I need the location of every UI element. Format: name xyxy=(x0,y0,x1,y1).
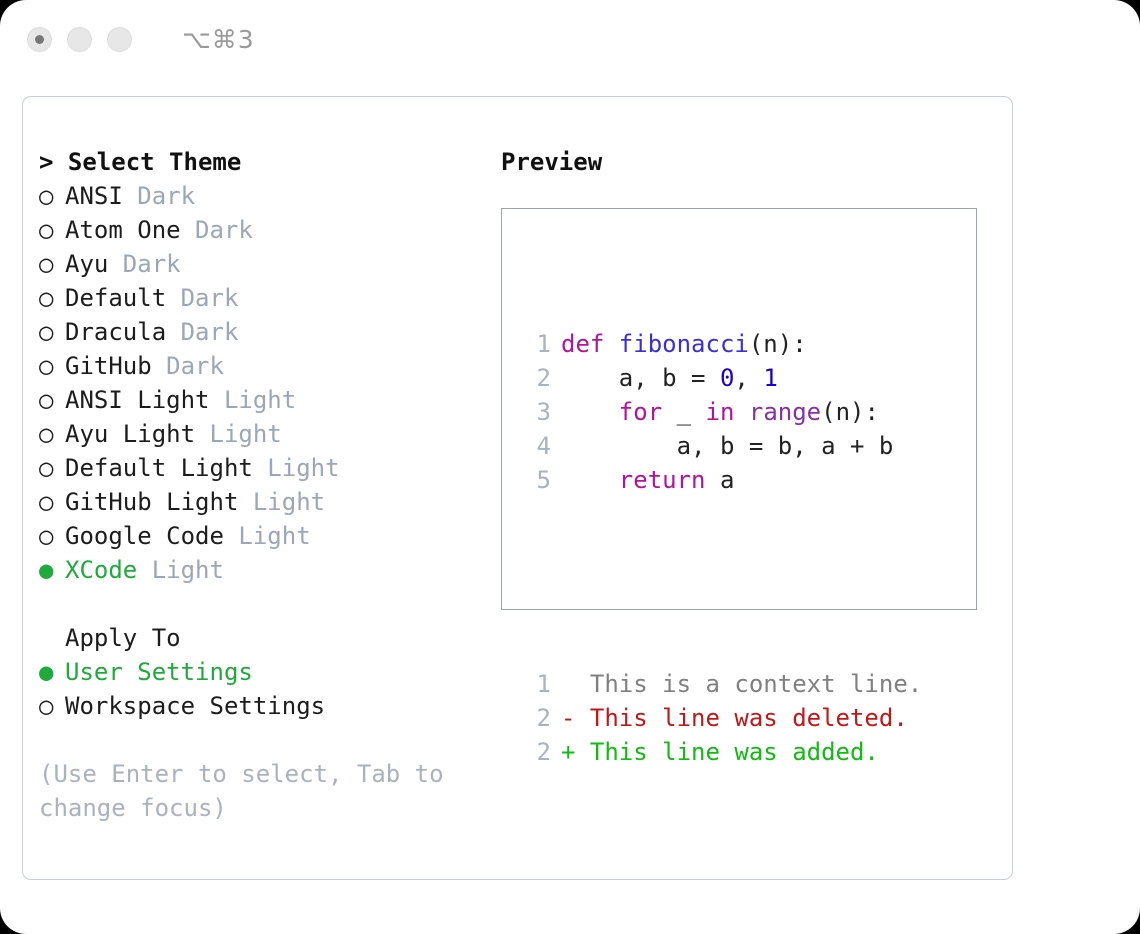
code-token: in xyxy=(706,398,735,426)
theme-name: GitHub Light xyxy=(65,488,238,516)
radio-unselected-icon: ○ xyxy=(39,383,65,417)
theme-picker-panel: > Select Theme ○ANSI Dark○Atom One Dark○… xyxy=(22,96,1013,880)
code-token: range xyxy=(749,398,821,426)
code-token xyxy=(561,466,619,494)
code-line: 2 a, b = 0, 1 xyxy=(523,361,922,395)
keyboard-shortcut-label: ⌥⌘3 xyxy=(182,27,255,52)
apply-to-label: Workspace Settings xyxy=(65,692,325,720)
theme-name: Ayu Light xyxy=(65,420,195,448)
apply-to-options: ●User Settings○Workspace Settings xyxy=(39,655,469,723)
code-line-number: 1 xyxy=(523,327,551,361)
theme-list: ○ANSI Dark○Atom One Dark○Ayu Dark○Defaul… xyxy=(39,179,469,587)
theme-variant-badge: Dark xyxy=(108,250,180,278)
theme-variant-badge: Dark xyxy=(181,216,253,244)
theme-name: XCode xyxy=(65,556,137,584)
theme-option-default-light[interactable]: ○Default Light Light xyxy=(39,451,469,485)
diff-sample: 1 This is a context line.2- This line wa… xyxy=(523,667,922,769)
recording-dot-inner xyxy=(35,35,44,44)
code-token: a, b = xyxy=(561,364,720,392)
recording-indicator-dot[interactable] xyxy=(27,27,52,52)
code-line: 4 a, b = b, a + b xyxy=(523,429,922,463)
apply-to-option-workspace-settings[interactable]: ○Workspace Settings xyxy=(39,689,469,723)
code-token: fibonacci xyxy=(619,330,749,358)
keyboard-hint-text: (Use Enter to select, Tab to change focu… xyxy=(39,757,459,825)
preview-header: Preview xyxy=(501,145,1001,179)
theme-name: ANSI Light xyxy=(65,386,210,414)
theme-option-atom-one[interactable]: ○Atom One Dark xyxy=(39,213,469,247)
radio-unselected-icon: ○ xyxy=(39,689,65,723)
code-line: 5 return a xyxy=(523,463,922,497)
preview-box: 1def fibonacci(n):2 a, b = 0, 13 for _ i… xyxy=(501,208,977,610)
diff-line-number: 1 xyxy=(523,667,551,701)
diff-line-text: - This line was deleted. xyxy=(561,704,908,732)
radio-unselected-icon: ○ xyxy=(39,519,65,553)
code-line-number: 3 xyxy=(523,395,551,429)
diff-line: 2- This line was deleted. xyxy=(523,701,922,735)
titlebar-dot-3[interactable] xyxy=(107,27,132,52)
theme-name: Ayu xyxy=(65,250,108,278)
radio-unselected-icon: ○ xyxy=(39,315,65,349)
theme-variant-badge: Light xyxy=(224,522,311,550)
theme-option-github[interactable]: ○GitHub Dark xyxy=(39,349,469,383)
theme-variant-badge: Dark xyxy=(152,352,224,380)
radio-unselected-icon: ○ xyxy=(39,213,65,247)
diff-line-text: This is a context line. xyxy=(561,670,922,698)
select-theme-header: > Select Theme xyxy=(39,145,469,179)
theme-option-github-light[interactable]: ○GitHub Light Light xyxy=(39,485,469,519)
apply-to-header: Apply To xyxy=(39,621,469,655)
theme-option-ansi-light[interactable]: ○ANSI Light Light xyxy=(39,383,469,417)
theme-option-ayu[interactable]: ○Ayu Dark xyxy=(39,247,469,281)
radio-unselected-icon: ○ xyxy=(39,485,65,519)
code-token: (n): xyxy=(821,398,879,426)
list-spacer xyxy=(39,587,469,621)
theme-variant-badge: Dark xyxy=(166,284,238,312)
radio-unselected-icon: ○ xyxy=(39,417,65,451)
code-token: , xyxy=(734,364,763,392)
apply-to-label: User Settings xyxy=(65,658,253,686)
code-token: a, b = b, a + b xyxy=(561,432,893,460)
code-line-number: 4 xyxy=(523,429,551,463)
code-token: def xyxy=(561,330,619,358)
theme-option-dracula[interactable]: ○Dracula Dark xyxy=(39,315,469,349)
terminal-window: ⌥⌘3 > Select Theme ○ANSI Dark○Atom One D… xyxy=(0,0,1140,934)
radio-unselected-icon: ○ xyxy=(39,247,65,281)
radio-unselected-icon: ○ xyxy=(39,349,65,383)
code-token: (n): xyxy=(749,330,807,358)
theme-list-column: > Select Theme ○ANSI Dark○Atom One Dark○… xyxy=(39,145,469,825)
code-token: 1 xyxy=(763,364,777,392)
diff-line: 2+ This line was added. xyxy=(523,735,922,769)
radio-unselected-icon: ○ xyxy=(39,451,65,485)
code-token xyxy=(734,398,748,426)
code-line: 1def fibonacci(n): xyxy=(523,327,922,361)
code-token: a xyxy=(706,466,735,494)
diff-line-text: + This line was added. xyxy=(561,738,879,766)
code-diff-gap xyxy=(523,565,922,599)
code-token: for xyxy=(619,398,662,426)
preview-code-area: 1def fibonacci(n):2 a, b = 0, 13 for _ i… xyxy=(523,259,922,837)
titlebar-dot-2[interactable] xyxy=(67,27,92,52)
theme-name: Dracula xyxy=(65,318,166,346)
theme-variant-badge: Light xyxy=(137,556,224,584)
theme-option-xcode[interactable]: ●XCode Light xyxy=(39,553,469,587)
theme-variant-badge: Dark xyxy=(123,182,195,210)
code-line-number: 2 xyxy=(523,361,551,395)
theme-variant-badge: Light xyxy=(253,454,340,482)
code-sample: 1def fibonacci(n):2 a, b = 0, 13 for _ i… xyxy=(523,327,922,497)
diff-line: 1 This is a context line. xyxy=(523,667,922,701)
apply-to-option-user-settings[interactable]: ●User Settings xyxy=(39,655,469,689)
theme-variant-badge: Light xyxy=(195,420,282,448)
radio-selected-icon: ● xyxy=(39,553,65,587)
theme-variant-badge: Light xyxy=(238,488,325,516)
code-token: _ xyxy=(662,398,705,426)
theme-name: ANSI xyxy=(65,182,123,210)
theme-name: Google Code xyxy=(65,522,224,550)
theme-option-ansi[interactable]: ○ANSI Dark xyxy=(39,179,469,213)
code-token xyxy=(561,398,619,426)
diff-line-number: 2 xyxy=(523,735,551,769)
radio-selected-icon: ● xyxy=(39,655,65,689)
code-line-number: 5 xyxy=(523,463,551,497)
theme-name: Default Light xyxy=(65,454,253,482)
theme-variant-badge: Dark xyxy=(166,318,238,346)
theme-name: GitHub xyxy=(65,352,152,380)
radio-unselected-icon: ○ xyxy=(39,281,65,315)
theme-option-google-code[interactable]: ○Google Code Light xyxy=(39,519,469,553)
radio-unselected-icon: ○ xyxy=(39,179,65,213)
theme-option-default[interactable]: ○Default Dark xyxy=(39,281,469,315)
code-token: return xyxy=(619,466,706,494)
diff-line-number: 2 xyxy=(523,701,551,735)
code-token: 0 xyxy=(720,364,734,392)
theme-variant-badge: Light xyxy=(210,386,297,414)
preview-column: Preview 1def fibonacci(n):2 a, b = 0, 13… xyxy=(501,145,1001,610)
theme-name: Default xyxy=(65,284,166,312)
theme-option-ayu-light[interactable]: ○Ayu Light Light xyxy=(39,417,469,451)
window-titlebar: ⌥⌘3 xyxy=(0,0,1140,78)
theme-name: Atom One xyxy=(65,216,181,244)
code-line: 3 for _ in range(n): xyxy=(523,395,922,429)
